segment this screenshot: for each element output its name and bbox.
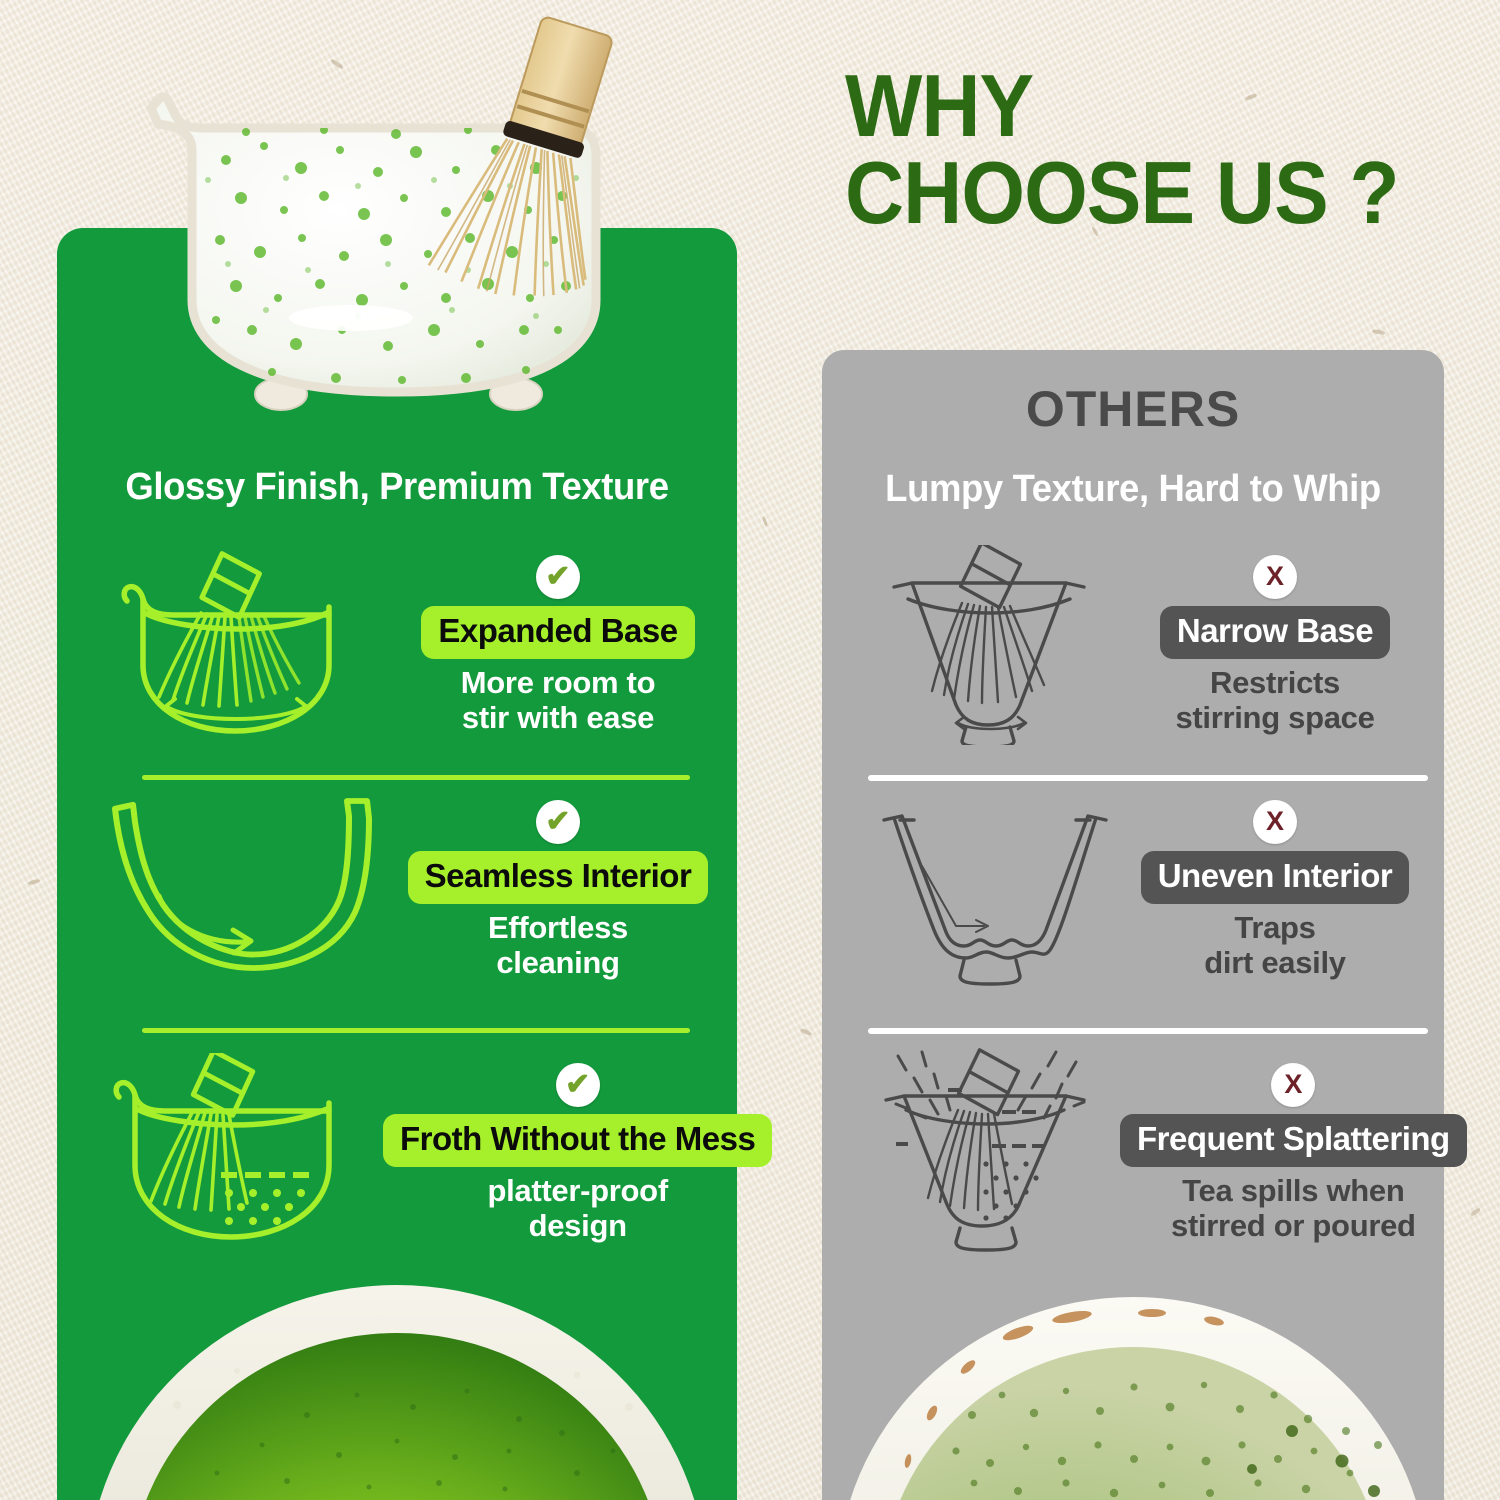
drawback-desc: Traps dirt easily — [1204, 911, 1345, 980]
others-result-photo — [822, 1255, 1444, 1500]
drawback-desc: Restricts stirring space — [1175, 666, 1374, 735]
divider-good-1 — [142, 775, 690, 780]
drawback-desc-line1: Restricts — [1175, 666, 1374, 701]
page-title-line2: CHOOSE US ? — [845, 149, 1422, 236]
feature-desc-line1: More room to — [461, 666, 655, 701]
feature-desc: platter-proof design — [487, 1174, 667, 1243]
bowl-cross-section-smooth-icon — [93, 790, 383, 990]
page-title: WHY CHOOSE US ? — [845, 62, 1422, 236]
drawback-row-frequent-splattering: X Frequent Splattering Tea spills when s… — [860, 1048, 1430, 1258]
drawback-desc-line1: Tea spills when — [1171, 1174, 1416, 1209]
drawback-desc: Tea spills when stirred or poured — [1171, 1174, 1416, 1243]
narrow-bowl-with-whisk-icon — [860, 545, 1120, 745]
feature-desc-line2: stir with ease — [461, 701, 655, 736]
drawback-text-uneven-interior: X Uneven Interior Traps dirt easily — [1120, 800, 1430, 980]
feature-pill-label: Seamless Interior — [408, 851, 709, 904]
drawback-desc-line2: stirred or poured — [1171, 1209, 1416, 1244]
divider-bad-1 — [868, 775, 1428, 781]
check-icon: ✔ — [536, 800, 580, 844]
drawback-row-narrow-base: X Narrow Base Restricts stirring space — [860, 545, 1430, 745]
feature-desc: More room to stir with ease — [461, 666, 655, 735]
feature-row-expanded-base: ✔ Expanded Base More room to stir with e… — [93, 545, 733, 745]
drawback-desc-line1: Traps — [1204, 911, 1345, 946]
divider-good-2 — [142, 1028, 690, 1033]
product-hero-photo — [96, 0, 716, 440]
page-title-line1: WHY — [845, 56, 1033, 155]
feature-pill-label: Froth Without the Mess — [383, 1114, 772, 1167]
cross-icon: X — [1253, 800, 1297, 844]
feature-text-expanded-base: ✔ Expanded Base More room to stir with e… — [383, 555, 733, 735]
cross-icon: X — [1253, 555, 1297, 599]
divider-bad-2 — [868, 1028, 1428, 1034]
others-subheading: Lumpy Texture, Hard to Whip — [834, 468, 1431, 511]
cross-icon: X — [1271, 1063, 1315, 1107]
others-title: OTHERS — [822, 380, 1444, 438]
wide-bowl-with-whisk-icon — [93, 545, 383, 745]
our-product-result-photo — [57, 1255, 737, 1500]
drawback-text-narrow-base: X Narrow Base Restricts stirring space — [1120, 555, 1430, 735]
bowl-cross-section-uneven-icon — [860, 790, 1120, 990]
feature-row-seamless-interior: ✔ Seamless Interior Effortless cleaning — [93, 790, 733, 990]
drawback-pill-label: Uneven Interior — [1141, 851, 1410, 904]
feature-text-seamless-interior: ✔ Seamless Interior Effortless cleaning — [383, 800, 733, 980]
feature-pill-label: Expanded Base — [421, 606, 694, 659]
feature-desc-line1: platter-proof — [487, 1174, 667, 1209]
bowl-with-splattering-icon — [860, 1048, 1120, 1258]
feature-row-froth-without-mess: ✔ Froth Without the Mess platter-proof d… — [93, 1048, 733, 1258]
feature-desc-line2: cleaning — [488, 946, 628, 981]
feature-desc-line1: Effortless — [488, 911, 628, 946]
drawback-desc-line2: dirt easily — [1204, 946, 1345, 981]
drawback-desc-line2: stirring space — [1175, 701, 1374, 736]
drawback-text-frequent-splattering: X Frequent Splattering Tea spills when s… — [1120, 1063, 1467, 1243]
drawback-row-uneven-interior: X Uneven Interior Traps dirt easily — [860, 790, 1430, 990]
drawback-pill-label: Frequent Splattering — [1120, 1114, 1467, 1167]
feature-desc: Effortless cleaning — [488, 911, 628, 980]
drawback-pill-label: Narrow Base — [1160, 606, 1390, 659]
our-product-subheading: Glossy Finish, Premium Texture — [71, 466, 724, 509]
check-icon: ✔ — [536, 555, 580, 599]
feature-desc-line2: design — [487, 1209, 667, 1244]
bowl-with-contained-liquid-icon — [93, 1053, 383, 1253]
feature-text-froth-without-mess: ✔ Froth Without the Mess platter-proof d… — [383, 1063, 772, 1243]
check-icon: ✔ — [556, 1063, 600, 1107]
